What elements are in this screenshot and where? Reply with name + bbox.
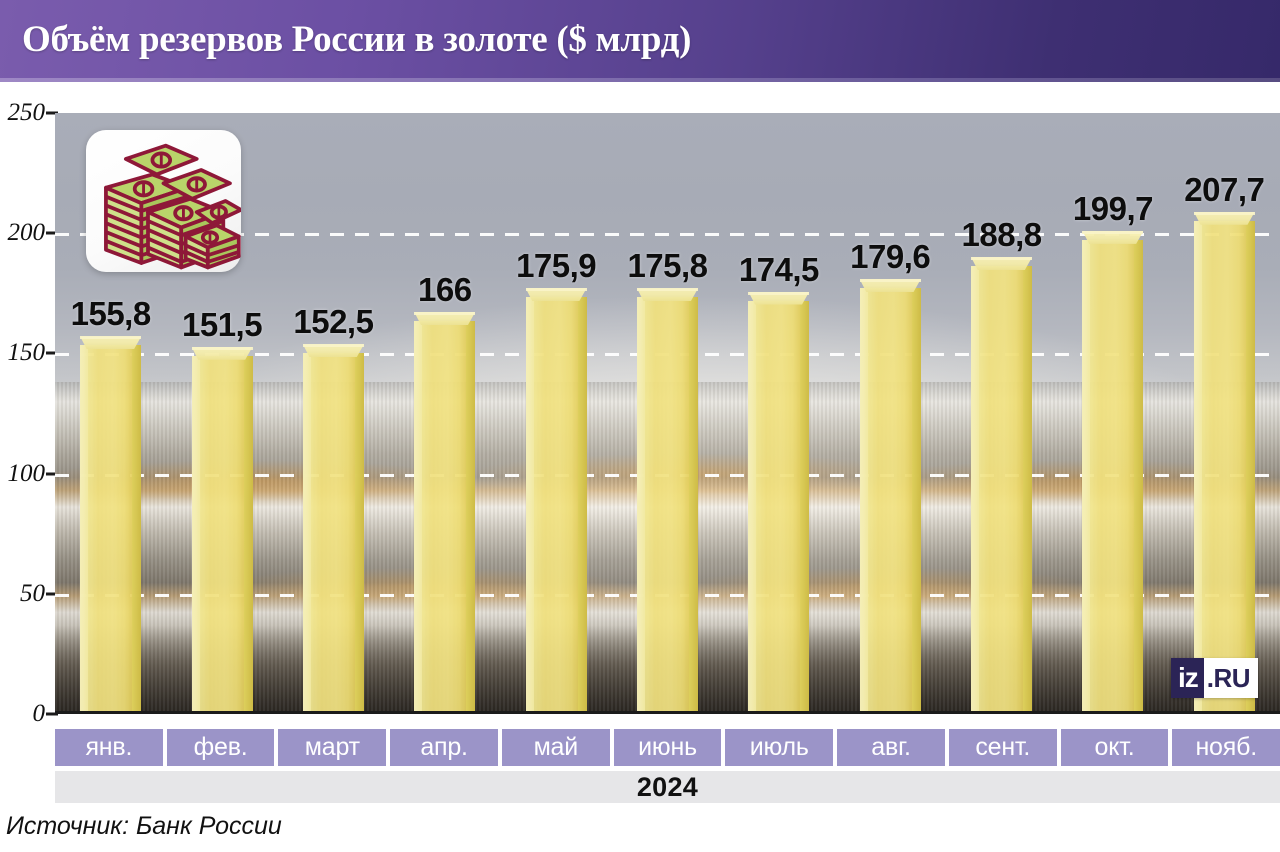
bar-right-face [132, 345, 141, 711]
bar [860, 279, 921, 711]
y-tick-label: 150 [8, 339, 46, 367]
bar-value-label: 179,6 [850, 238, 930, 276]
y-tick-label: 250 [8, 99, 46, 127]
bar-top-edge [80, 336, 141, 339]
bar-value-label: 175,8 [627, 247, 707, 285]
month-label-cell: окт. [1061, 729, 1169, 766]
bar [971, 257, 1032, 711]
month-label-cell: июль [725, 729, 833, 766]
bar-left-face [414, 321, 422, 711]
month-label-cell: янв. [55, 729, 163, 766]
logo-tld: .RU [1204, 658, 1258, 698]
bar-value-label: 199,7 [1073, 190, 1153, 228]
bar-left-face [637, 297, 645, 711]
month-label-cell: апр. [390, 729, 498, 766]
bar-right-face [689, 297, 698, 711]
bar-value-label: 175,9 [516, 247, 596, 285]
month-label-cell: июнь [614, 729, 722, 766]
bar [303, 344, 364, 711]
bar [80, 336, 141, 711]
bar-top-edge [1194, 212, 1255, 215]
bar-right-face [466, 321, 475, 711]
y-tick-label: 100 [8, 460, 46, 488]
bar-left-face [303, 353, 311, 711]
bar-left-face [748, 301, 756, 711]
y-tick-label: 200 [8, 219, 46, 247]
header-banner: Объём резервов России в золоте ($ млрд) [0, 0, 1280, 78]
bar-left-face [1082, 240, 1090, 711]
y-tick-label: 50 [20, 580, 45, 608]
bar-right-face [1246, 221, 1255, 711]
x-axis-month-labels: янв.фев.мартапр.майиюньиюльавг.сент.окт.… [55, 729, 1280, 766]
bar-top-edge [971, 257, 1032, 260]
bar-right-face [912, 288, 921, 711]
bar [748, 292, 809, 711]
iz-ru-logo[interactable]: iz .RU [1171, 658, 1258, 698]
y-axis: 050100150200250 [0, 86, 55, 726]
money-stacks-glyph [86, 130, 241, 272]
bar-left-face [971, 266, 979, 711]
bar [414, 312, 475, 711]
bar-top-edge [303, 344, 364, 347]
bar-value-label: 152,5 [293, 303, 373, 341]
bar-right-face [578, 297, 587, 711]
bar [637, 288, 698, 711]
month-label-cell: март [278, 729, 386, 766]
bar-left-face [526, 297, 534, 711]
bar-right-face [244, 356, 253, 711]
bar-right-face [800, 301, 809, 711]
bar-top-edge [860, 279, 921, 282]
bar-top-edge [637, 288, 698, 291]
year-label: 2024 [637, 772, 698, 803]
bar-left-face [860, 288, 868, 711]
bar-top-edge [748, 292, 809, 295]
bar-right-face [1023, 266, 1032, 711]
month-label-cell: авг. [837, 729, 945, 766]
source-note: Источник: Банк России [6, 812, 282, 841]
chart-area: 050100150200250 155,8151,5152,5166175,91… [0, 86, 1280, 726]
page-title: Объём резервов России в золоте ($ млрд) [22, 18, 691, 61]
bar-top-edge [1082, 231, 1143, 234]
month-label-cell: фев. [167, 729, 275, 766]
bar-right-face [355, 353, 364, 711]
money-stacks-icon [86, 130, 241, 272]
bar-top-edge [414, 312, 475, 315]
bar-value-label: 155,8 [71, 295, 151, 333]
logo-mark: iz [1171, 658, 1204, 698]
bar-value-label: 188,8 [962, 216, 1042, 254]
x-axis-year-band: 2024 [55, 771, 1280, 803]
bar [1194, 212, 1255, 711]
month-label-cell: нояб. [1172, 729, 1280, 766]
bar-value-label: 174,5 [739, 251, 819, 289]
month-label-cell: май [502, 729, 610, 766]
bar-value-label: 166 [418, 271, 472, 309]
bar [526, 288, 587, 711]
y-tick-label: 0 [33, 700, 46, 728]
bar-top-edge [192, 347, 253, 350]
bar [192, 347, 253, 711]
header-underline [0, 78, 1280, 82]
bar-left-face [1194, 221, 1202, 711]
bar [1082, 231, 1143, 711]
bar-right-face [1134, 240, 1143, 711]
bar-left-face [192, 356, 200, 711]
bar-value-label: 151,5 [182, 306, 262, 344]
bar-top-edge [526, 288, 587, 291]
bar-value-label: 207,7 [1184, 171, 1264, 209]
month-label-cell: сент. [949, 729, 1057, 766]
bar-left-face [80, 345, 88, 711]
